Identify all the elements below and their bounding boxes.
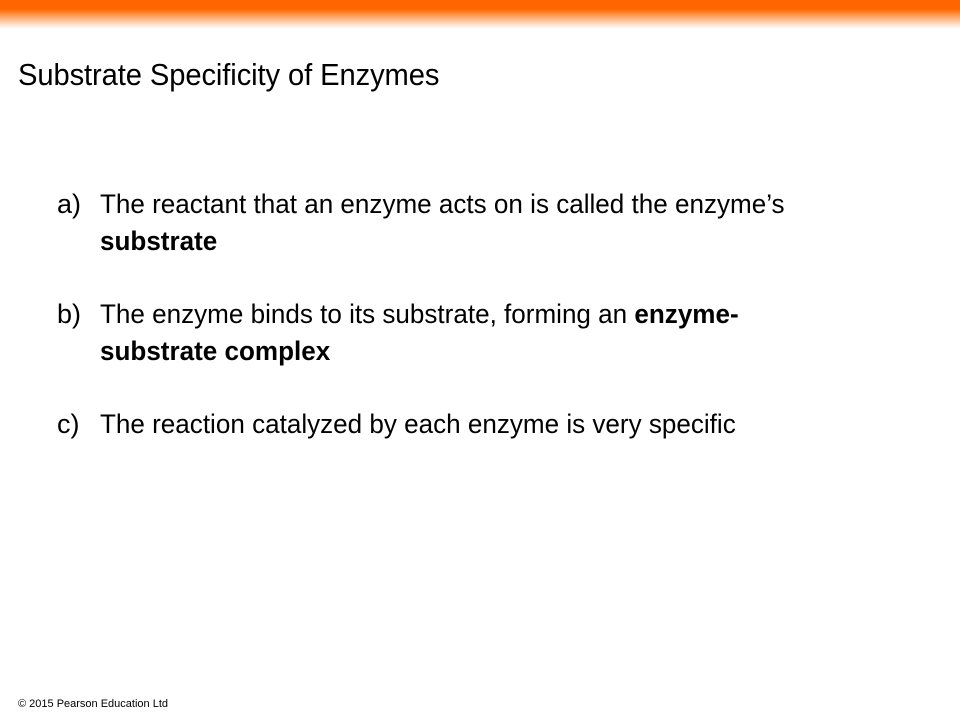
- copyright-footer: © 2015 Pearson Education Ltd: [18, 697, 168, 711]
- banner-solid-band: [0, 0, 960, 9]
- list-item-text-a: The reactant that an enzyme acts on is c…: [100, 186, 819, 260]
- orange-gradient-bar: [0, 0, 960, 29]
- list-marker-b: b): [57, 296, 97, 333]
- list-item: c) The reaction catalyzed by each enzyme…: [57, 406, 917, 443]
- list-item-text-b: The enzyme binds to its substrate, formi…: [100, 296, 824, 370]
- slide-title: Substrate Specificity of Enzymes: [18, 57, 873, 93]
- slide-canvas: Substrate Specificity of Enzymes a) The …: [0, 0, 960, 720]
- banner-fade-band: [0, 9, 960, 29]
- list-item: a) The reactant that an enzyme acts on i…: [57, 186, 917, 260]
- list-marker-c: c): [57, 406, 97, 443]
- list-item: b) The enzyme binds to its substrate, fo…: [57, 296, 917, 370]
- list-item-text-c: The reaction catalyzed by each enzyme is…: [100, 406, 776, 443]
- list-marker-a: a): [57, 186, 97, 223]
- lettered-list: a) The reactant that an enzyme acts on i…: [57, 186, 917, 443]
